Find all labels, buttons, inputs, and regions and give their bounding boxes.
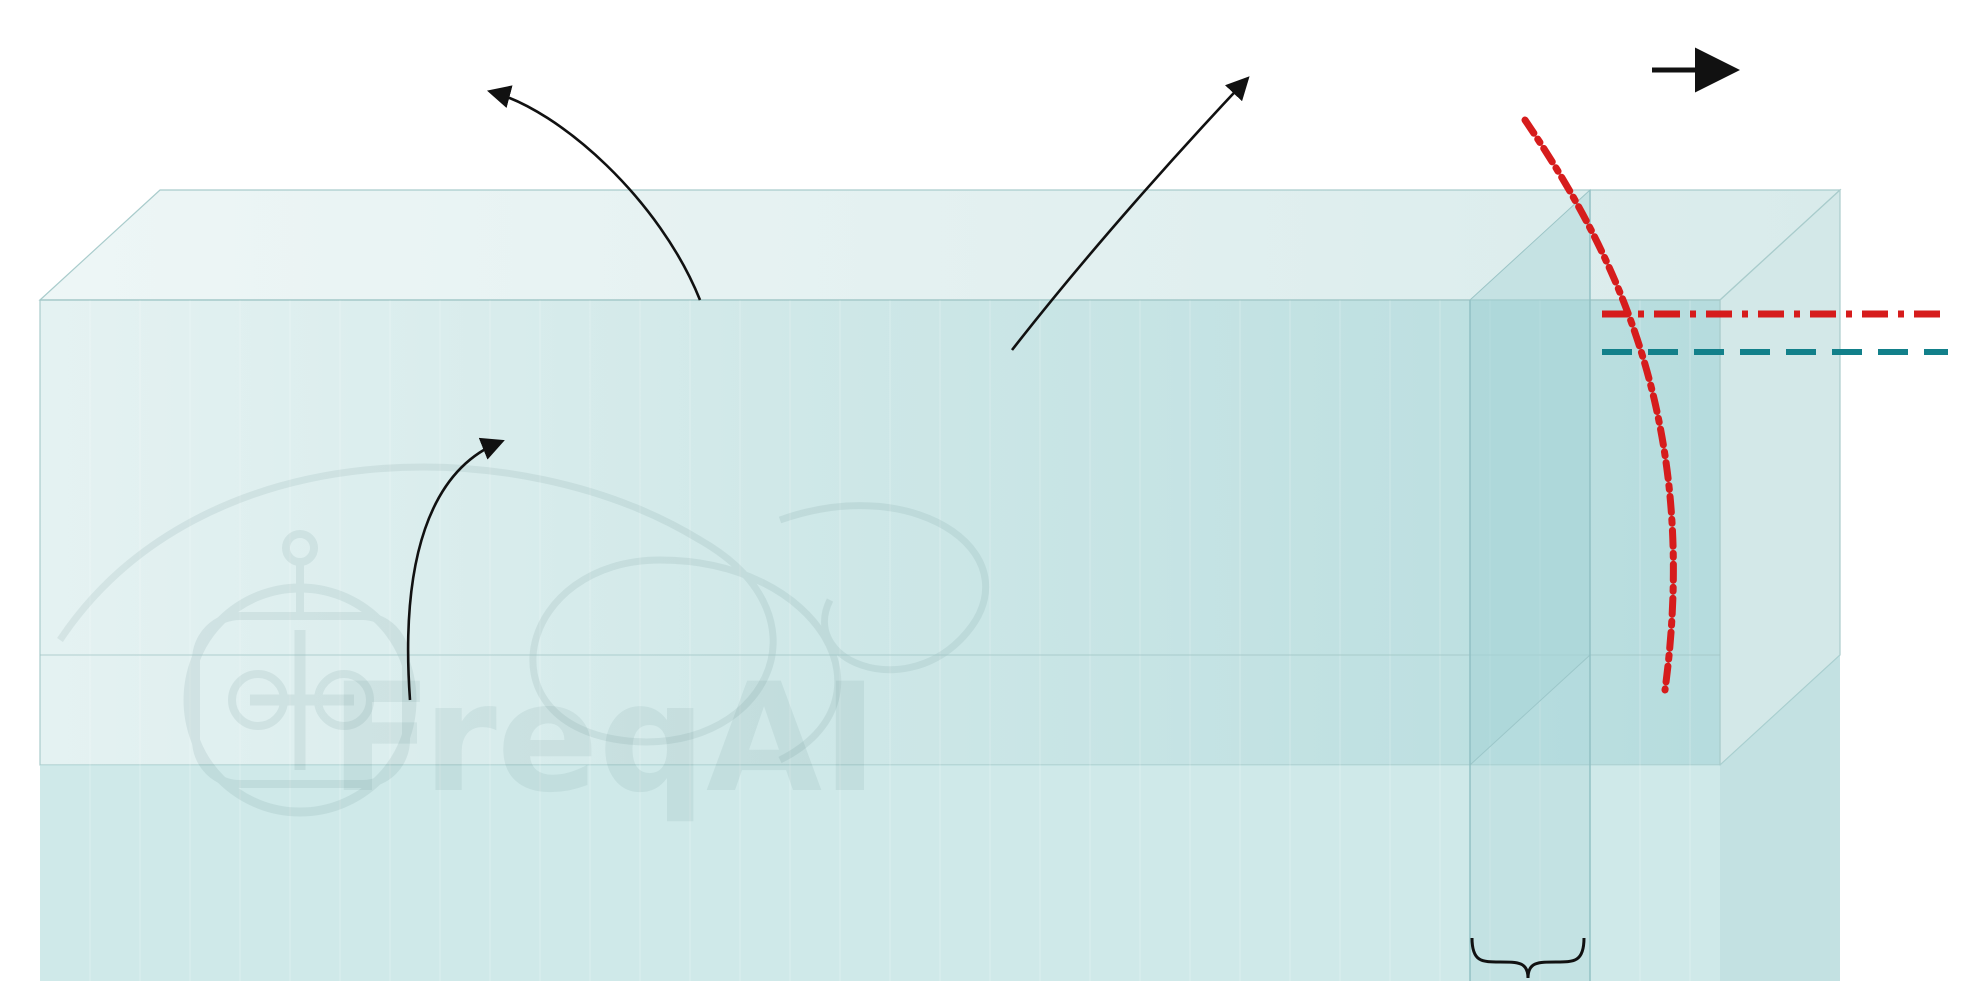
schematic-svg: FreqAI xyxy=(0,0,1966,981)
legend xyxy=(1600,300,1960,360)
legend-item-training xyxy=(1600,344,1960,360)
legend-swatch-training xyxy=(1600,344,1950,360)
legend-item-prediction xyxy=(1600,306,1960,322)
legend-swatch-prediction xyxy=(1600,306,1950,322)
diagram-canvas: FreqAI xyxy=(0,0,1966,981)
training-window-highlight xyxy=(1470,190,1590,981)
freqai-watermark-text: FreqAI xyxy=(330,652,878,826)
